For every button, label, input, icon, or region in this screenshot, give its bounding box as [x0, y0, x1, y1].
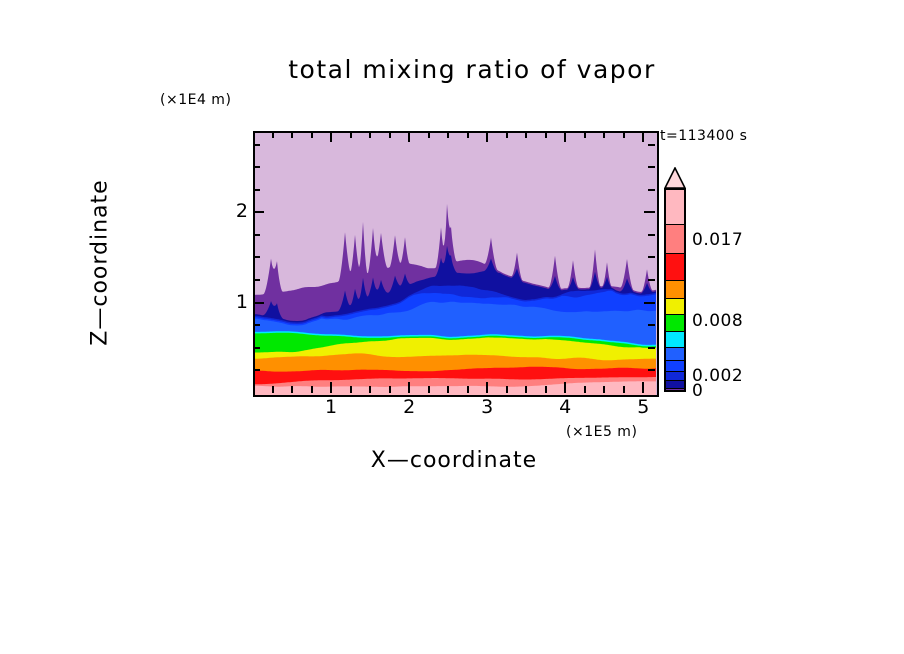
colorbar-band — [666, 315, 684, 332]
axis-tick — [467, 131, 469, 138]
axis-tick — [642, 382, 644, 393]
axis-tick — [253, 279, 260, 281]
colorbar-band — [666, 190, 684, 225]
y-tick-label: 2 — [222, 200, 248, 222]
x-tick-label: 4 — [550, 396, 580, 418]
y-axis-title: Z—coordinate — [88, 143, 113, 383]
time-annotation: t=113400 s — [660, 128, 747, 144]
axis-tick — [369, 131, 371, 138]
colorbar-band — [666, 361, 684, 372]
axis-tick — [644, 211, 655, 213]
axis-tick — [428, 386, 430, 393]
chart-title-text: total mixing ratio of vapor — [248, 55, 656, 84]
axis-tick — [350, 131, 352, 138]
axis-tick — [389, 131, 391, 138]
axis-tick — [253, 347, 260, 349]
axis-tick — [253, 324, 260, 326]
axis-tick — [564, 131, 566, 142]
contour-field — [255, 133, 657, 395]
axis-tick — [291, 386, 293, 393]
colorbar-band — [666, 389, 684, 392]
axis-tick — [253, 256, 260, 258]
axis-tick — [369, 386, 371, 393]
axis-tick — [506, 386, 508, 393]
axis-tick — [584, 131, 586, 138]
colorbar — [664, 188, 686, 392]
axis-tick — [486, 382, 488, 393]
axis-tick — [447, 386, 449, 393]
colorbar-tick-label: 0.017 — [692, 230, 743, 250]
x-axis-unit-label: (×1E5 m) — [566, 424, 637, 440]
chart-title: total mixing ratio of vapor — [0, 55, 904, 84]
axis-tick — [272, 131, 274, 138]
axis-tick — [648, 347, 655, 349]
colorbar-band — [666, 372, 684, 381]
axis-tick — [648, 369, 655, 371]
axis-tick — [644, 302, 655, 304]
axis-tick — [623, 131, 625, 138]
colorbar-tick-label: 0 — [692, 381, 703, 401]
colorbar-extend-arrow — [664, 167, 686, 189]
axis-tick — [648, 234, 655, 236]
axis-tick — [525, 131, 527, 138]
axis-tick — [350, 386, 352, 393]
axis-tick — [253, 189, 260, 191]
axis-tick — [648, 166, 655, 168]
axis-tick — [648, 279, 655, 281]
axis-tick — [584, 386, 586, 393]
colorbar-band — [666, 299, 684, 315]
colorbar-band — [666, 225, 684, 254]
axis-tick — [603, 131, 605, 138]
x-tick-label: 3 — [472, 396, 502, 418]
axis-tick — [623, 386, 625, 393]
axis-tick — [648, 256, 655, 258]
axis-tick — [648, 189, 655, 191]
y-axis-unit-label: (×1E4 m) — [160, 92, 231, 108]
x-tick-label: 2 — [394, 396, 424, 418]
axis-tick — [648, 144, 655, 146]
axis-tick — [311, 131, 313, 138]
axis-tick — [545, 131, 547, 138]
colorbar-band — [666, 332, 684, 348]
axis-tick — [467, 386, 469, 393]
axis-tick — [545, 386, 547, 393]
axis-tick — [564, 382, 566, 393]
axis-tick — [408, 382, 410, 393]
axis-tick — [506, 131, 508, 138]
x-axis-title: X—coordinate — [253, 448, 655, 473]
axis-tick — [428, 131, 430, 138]
axis-tick — [330, 382, 332, 393]
x-tick-label: 1 — [316, 396, 346, 418]
colorbar-band — [666, 348, 684, 361]
colorbar-tick-label: 0.008 — [692, 311, 743, 331]
axis-tick — [389, 386, 391, 393]
axis-tick — [253, 369, 260, 371]
contour-plot-area — [253, 131, 659, 397]
axis-tick — [330, 131, 332, 142]
axis-tick — [253, 211, 264, 213]
x-tick-label: 5 — [628, 396, 658, 418]
axis-tick — [486, 131, 488, 142]
colorbar-band — [666, 381, 684, 389]
axis-tick — [525, 386, 527, 393]
y-tick-label: 1 — [222, 291, 248, 313]
axis-tick — [253, 166, 260, 168]
axis-tick — [253, 144, 260, 146]
colorbar-band — [666, 281, 684, 299]
colorbar-band — [666, 254, 684, 281]
axis-tick — [291, 131, 293, 138]
axis-tick — [272, 386, 274, 393]
axis-tick — [408, 131, 410, 142]
axis-tick — [648, 324, 655, 326]
axis-tick — [253, 302, 264, 304]
axis-tick — [311, 386, 313, 393]
axis-tick — [603, 386, 605, 393]
axis-tick — [253, 234, 260, 236]
axis-tick — [642, 131, 644, 142]
axis-tick — [447, 131, 449, 138]
